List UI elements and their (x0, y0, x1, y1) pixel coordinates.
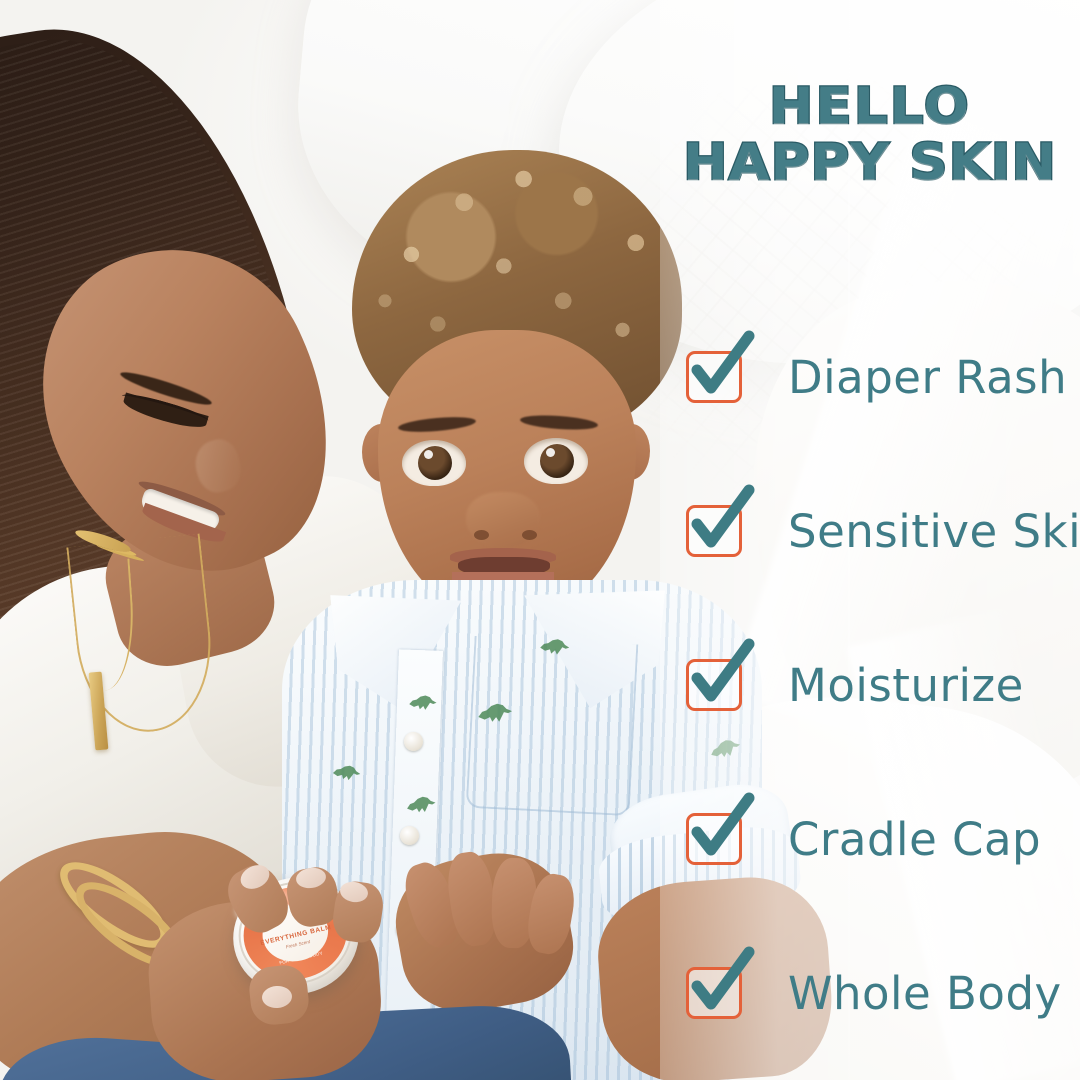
checkbox-checked-icon[interactable] (686, 967, 742, 1019)
checkbox-checked-icon[interactable] (686, 351, 742, 403)
headline-line-2: HAPPY SKIN (647, 134, 1080, 190)
toddler-nostril-right (522, 530, 537, 540)
headline-line-1: HELLO (769, 77, 971, 135)
promo-image: HELLO HAPPY SKIN FOR WHOLE BODY EVERYTHI… (0, 0, 1080, 1080)
list-item-label: Diaper Rash (788, 355, 1067, 400)
toddler-iris-left (418, 446, 452, 480)
list-item[interactable]: Cradle Cap (686, 762, 1080, 916)
checkbox-checked-icon[interactable] (686, 813, 742, 865)
list-item[interactable]: Sensitive Skin (686, 454, 1080, 608)
checkbox-checked-icon[interactable] (686, 659, 742, 711)
list-item-label: Whole Body (788, 971, 1062, 1016)
list-item[interactable]: Whole Body (686, 916, 1080, 1070)
list-item-label: Cradle Cap (788, 817, 1041, 862)
shirt-pocket (466, 636, 639, 816)
list-item[interactable]: Moisturize (686, 608, 1080, 762)
checkbox-checked-icon[interactable] (686, 505, 742, 557)
list-item-label: Moisturize (788, 663, 1024, 708)
list-item[interactable]: Diaper Rash (686, 300, 1080, 454)
toddler-iris-right (540, 444, 574, 478)
list-item-label: Sensitive Skin (788, 509, 1080, 554)
page-title: HELLO HAPPY SKIN (647, 78, 1080, 190)
benefits-checklist: Diaper Rash Sensitive Skin Moisturize (686, 300, 1080, 1070)
shirt-button (400, 826, 419, 845)
shirt-button (404, 732, 423, 751)
toddler-eye-glint-left (424, 450, 433, 459)
toddler-eye-glint-right (546, 448, 555, 457)
toddler-nostril-left (474, 530, 489, 540)
